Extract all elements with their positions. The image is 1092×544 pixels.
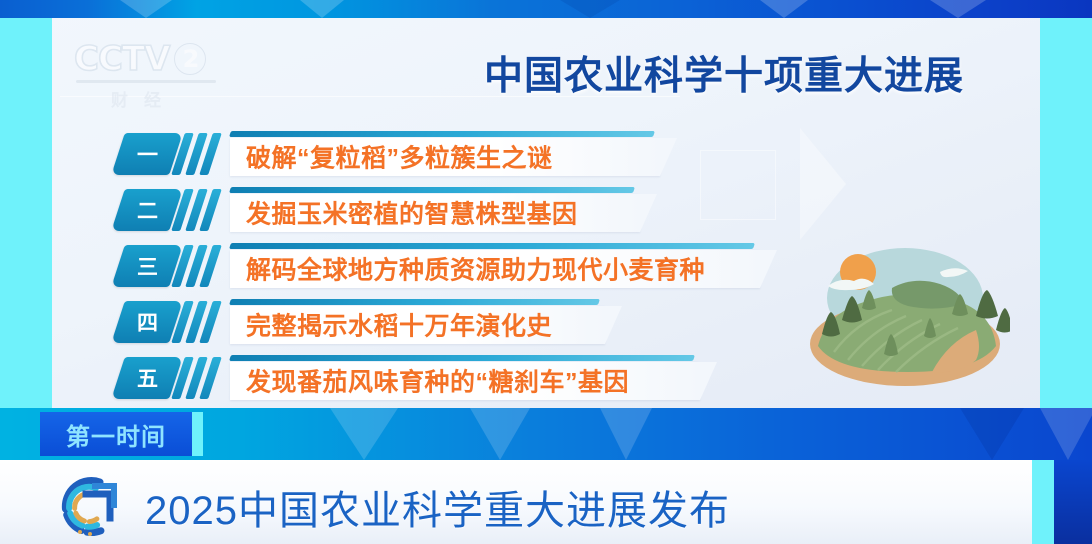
item-number: 二 [137, 195, 158, 225]
news-headline: 2025中国农业科学重大进展发布 [145, 478, 730, 536]
item-ribbon: 破解“复粒稻”多粒簇生之谜 [230, 138, 660, 176]
slash-decor-icon [176, 189, 222, 231]
program-name: 第一时间 [66, 417, 166, 452]
item-label: 破解“复粒稻”多粒簇生之谜 [246, 138, 553, 174]
item-number: 四 [137, 307, 158, 337]
item-topline [229, 243, 755, 249]
item-ribbon: 发现番茄风味育种的“糖刹车”基因 [230, 362, 700, 400]
item-topline [229, 299, 600, 305]
cctv2-channel-logo: CCTV 2 财经 [74, 42, 224, 108]
cctv-logo-number: 2 [174, 43, 206, 75]
page-title: 中国农业科学十项重大进展 [484, 45, 964, 101]
item-number: 五 [137, 363, 158, 393]
slash-decor-icon [176, 301, 222, 343]
watermark-box [700, 150, 776, 220]
item-ribbon: 完整揭示水稻十万年演化史 [230, 306, 605, 344]
slash-decor-icon [176, 357, 222, 399]
left-cyan-stripe [0, 18, 52, 408]
cast-circular-logo [56, 472, 128, 540]
cctv-logo-text: CCTV [74, 42, 169, 76]
item-label: 解码全球地方种质资源助力现代小麦育种 [246, 250, 705, 286]
item-topline [229, 187, 635, 193]
item-topline [229, 131, 655, 137]
item-label: 完整揭示水稻十万年演化史 [246, 306, 552, 342]
item-number: 一 [137, 139, 158, 169]
item-topline [229, 355, 695, 361]
headline-cyan-tab [1032, 460, 1054, 544]
item-ribbon: 发掘玉米密植的智慧株型基因 [230, 194, 640, 232]
broadcast-screen: CCTV 2 财经 中国农业科学十项重大进展 一 破解“复粒稻”多粒簇生之谜 二 [0, 0, 1092, 544]
farmland-illustration [800, 236, 1010, 391]
right-cyan-stripe [1040, 18, 1092, 408]
item-number: 三 [137, 251, 158, 281]
headline-right-block [1054, 460, 1092, 544]
item-label: 发掘玉米密植的智慧株型基因 [246, 194, 578, 230]
slash-decor-icon [176, 133, 222, 175]
item-ribbon: 解码全球地方种质资源助力现代小麦育种 [230, 250, 760, 288]
program-name-badge: 第一时间 [40, 412, 192, 456]
cctv-logo-subtitle: 财经 [74, 86, 214, 111]
item-label: 发现番茄风味育种的“糖刹车”基因 [246, 362, 629, 398]
top-decor-bar [0, 0, 1092, 18]
watermark-triangle [800, 128, 846, 240]
program-badge-accent [192, 412, 203, 456]
cctv-logo-divider [76, 80, 216, 83]
slash-decor-icon [176, 245, 222, 287]
cctv-logo-mark: CCTV 2 [74, 42, 224, 76]
